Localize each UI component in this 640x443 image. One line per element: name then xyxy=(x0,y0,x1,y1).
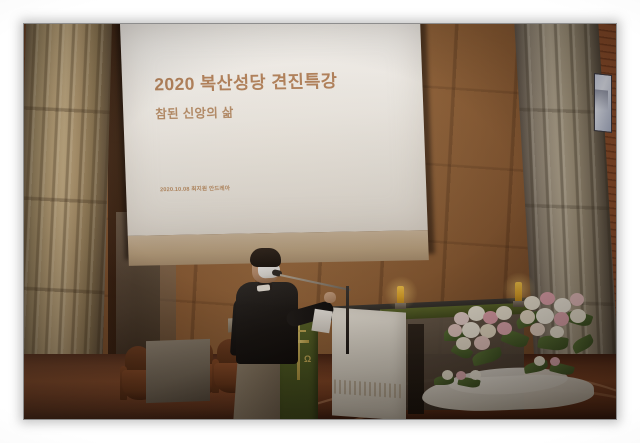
photo-vignette xyxy=(24,24,616,419)
photo-frame: 2020 복산성당 견진특강 참된 신앙의 삶 2020.10.08 최지원 안… xyxy=(0,0,640,443)
photograph: 2020 복산성당 견진특강 참된 신앙의 삶 2020.10.08 최지원 안… xyxy=(24,24,616,419)
